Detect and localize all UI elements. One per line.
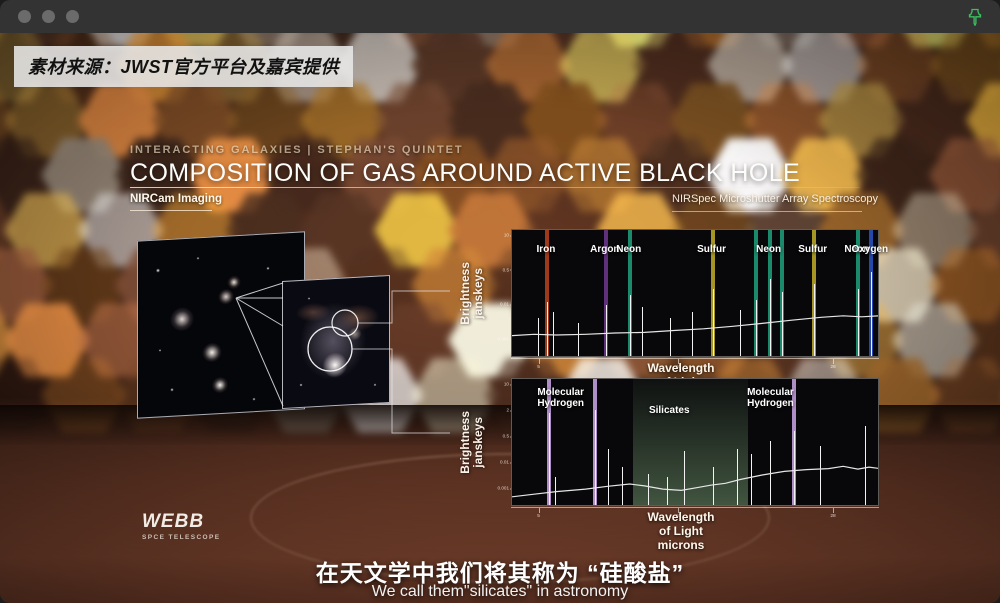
x-axis-tick-label: 28 bbox=[830, 514, 835, 519]
nircam-caption: NIRCam Imaging bbox=[130, 193, 222, 205]
y-axis-ticks: 100.50.010.001 bbox=[489, 229, 511, 357]
nircam-caption-divider bbox=[130, 210, 212, 211]
window-controls bbox=[18, 10, 79, 23]
x-axis-tick-label: 5 bbox=[537, 514, 540, 519]
spectrum-line-label: Iron bbox=[537, 245, 556, 256]
webb-logo-subtitle: SPCE TELESCOPE bbox=[142, 534, 220, 541]
subtitle-english: We call them"silicates" in astronomy bbox=[0, 583, 1000, 601]
nirspec-caption-divider bbox=[672, 211, 862, 212]
y-axis-tick-label: 0.001 bbox=[498, 486, 510, 491]
y-axis-tick-label: 2 bbox=[506, 408, 509, 413]
x-axis-line bbox=[511, 358, 879, 359]
spectrum-line-label: Sulfur bbox=[798, 245, 827, 256]
webb-logo-word: WEBB bbox=[142, 511, 220, 533]
y-axis-ticks: 1020.50.010.001 bbox=[489, 378, 511, 506]
y-axis-label: Brightnessjanskeys bbox=[455, 378, 489, 506]
title-divider bbox=[130, 187, 860, 188]
x-axis-line bbox=[511, 507, 879, 508]
source-banner: 素材来源：JWST官方平台及嘉宾提供 bbox=[14, 46, 353, 87]
x-axis-tick-label: 28 bbox=[830, 365, 835, 370]
y-axis-tick-label: 10 bbox=[504, 233, 509, 238]
y-axis-label-line: janskeys bbox=[472, 268, 485, 319]
y-axis-tick-label: 0.001 bbox=[498, 337, 510, 342]
y-axis-tick-label: 0.5 bbox=[503, 267, 509, 272]
slide-title: COMPOSITION OF GAS AROUND ACTIVE BLACK H… bbox=[130, 159, 800, 188]
slide-eyebrow: INTERACTING GALAXIES | STEPHAN'S QUINTET bbox=[130, 144, 464, 156]
y-axis-tick-label: 0.01 bbox=[500, 460, 509, 465]
y-axis-tick-label: 10 bbox=[504, 382, 509, 387]
spectrum-line-label: Sulfur bbox=[697, 245, 726, 256]
x-axis-tick-label: 5 bbox=[537, 365, 540, 370]
pin-icon[interactable] bbox=[964, 6, 986, 28]
y-axis-label: Brightnessjanskeys bbox=[455, 229, 489, 357]
y-axis-tick-label: 0.01 bbox=[500, 302, 509, 307]
spectrum-line-label: Argon bbox=[590, 245, 619, 256]
nirspec-caption: NIRSpec Microshutter Array Spectroscopy bbox=[672, 193, 878, 205]
spectrum-line-label: Oxygen bbox=[851, 245, 888, 256]
x-axis-label: Wavelength of Light microns bbox=[648, 511, 715, 552]
app-window: 素材来源：JWST官方平台及嘉宾提供 INTERACTING GALAXIES … bbox=[0, 0, 1000, 603]
spectrum-line-label: Neon bbox=[616, 245, 641, 256]
x-axis-tick bbox=[539, 359, 540, 364]
maximize-button[interactable] bbox=[66, 10, 79, 23]
close-button[interactable] bbox=[18, 10, 31, 23]
minimize-button[interactable] bbox=[42, 10, 55, 23]
y-axis-label-line: janskeys bbox=[472, 417, 485, 468]
spectrum-line-label: Neon bbox=[756, 245, 781, 256]
webb-logo: WEBB SPCE TELESCOPE bbox=[142, 511, 220, 541]
stephans-quintet-wide-image bbox=[137, 231, 305, 418]
video-stage[interactable]: 素材来源：JWST官方平台及嘉宾提供 INTERACTING GALAXIES … bbox=[0, 33, 1000, 603]
x-axis-tick bbox=[539, 508, 540, 513]
spectrum-line-label: Silicates bbox=[649, 406, 690, 417]
x-axis-tick bbox=[833, 359, 834, 364]
y-axis-tick-label: 0.5 bbox=[503, 434, 509, 439]
spectrum-line-label: Molecular Hydrogen bbox=[537, 388, 584, 410]
stephans-quintet-zoom-image bbox=[282, 275, 390, 409]
x-axis-tick bbox=[833, 508, 834, 513]
title-bar bbox=[0, 0, 1000, 33]
spectrum-line-label: Molecular Hydrogen bbox=[747, 388, 794, 410]
